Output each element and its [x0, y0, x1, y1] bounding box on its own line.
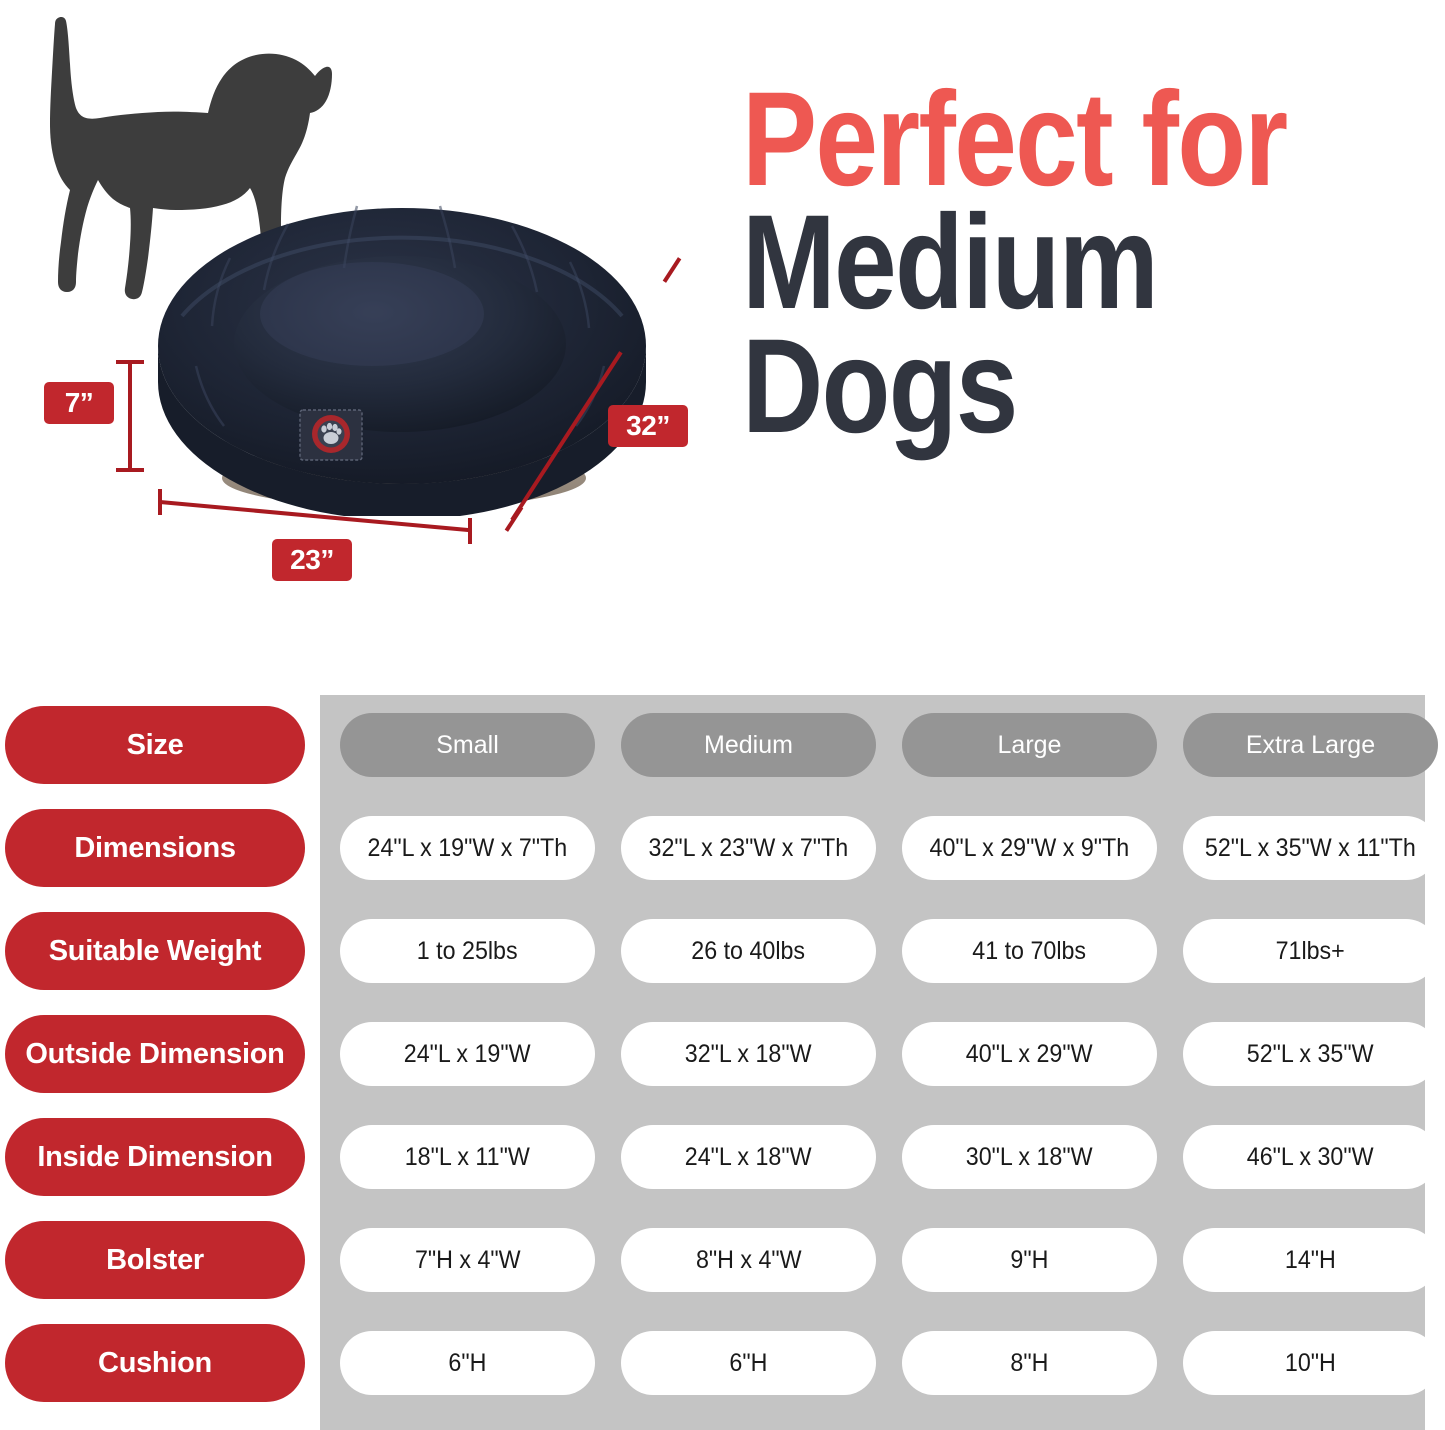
table-cell: 32"L x 18"W	[621, 1022, 876, 1086]
height-measure-cap-top	[116, 360, 144, 364]
table-cell: 1 to 25lbs	[340, 919, 595, 983]
table-cell: 9"H	[902, 1228, 1157, 1292]
table-cell-value: 7"H x 4"W	[415, 1246, 521, 1275]
row-label-size: Size	[5, 706, 305, 784]
headline-line-1: Perfect for	[742, 78, 1330, 201]
row-label-suitable-weight: Suitable Weight	[5, 912, 305, 990]
table-cell-value: 10"H	[1285, 1349, 1336, 1378]
table-cell-value: 30"L x 18"W	[966, 1143, 1093, 1172]
table-cell-value: 46"L x 30"W	[1247, 1143, 1374, 1172]
row-label-inside-dimension: Inside Dimension	[5, 1118, 305, 1196]
table-cells-area: SmallMediumLargeExtra Large24"L x 19"W x…	[320, 690, 1445, 1430]
height-measure-cap-bottom	[116, 468, 144, 472]
table-cell: 40"L x 29"W	[902, 1022, 1157, 1086]
table-cell: 71lbs+	[1183, 919, 1438, 983]
table-cell: 24"L x 19"W x 7"Th	[340, 816, 595, 880]
table-cell-value: 8"H	[1011, 1349, 1049, 1378]
table-cell: 32"L x 23"W x 7"Th	[621, 816, 876, 880]
depth-measure-cap-top	[663, 257, 682, 283]
table-cell: 46"L x 30"W	[1183, 1125, 1438, 1189]
column-header-large: Large	[902, 713, 1157, 777]
row-label-cushion: Cushion	[5, 1324, 305, 1402]
table-cell-value: 26 to 40lbs	[692, 937, 806, 966]
height-callout-badge: 7”	[44, 382, 114, 424]
table-cell-value: 32"L x 18"W	[685, 1040, 812, 1069]
headline: Perfect for Medium Dogs	[742, 78, 1442, 448]
table-cell: 24"L x 18"W	[621, 1125, 876, 1189]
column-header-medium: Medium	[621, 713, 876, 777]
table-cell-value: 32"L x 23"W x 7"Th	[649, 834, 849, 863]
row-label-dimensions: Dimensions	[5, 809, 305, 887]
table-cell: 6"H	[340, 1331, 595, 1395]
table-cell-value: 1 to 25lbs	[417, 937, 518, 966]
headline-line-3: Dogs	[742, 325, 1330, 448]
table-cell: 10"H	[1183, 1331, 1438, 1395]
table-cell: 40"L x 29"W x 9"Th	[902, 816, 1157, 880]
table-cell-value: 71lbs+	[1276, 937, 1345, 966]
column-header-small: Small	[340, 713, 595, 777]
row-label-bolster: Bolster	[5, 1221, 305, 1299]
row-label-column: SizeDimensionsSuitable WeightOutside Dim…	[0, 690, 312, 1430]
brand-tag	[300, 410, 362, 460]
specification-table: SizeDimensionsSuitable WeightOutside Dim…	[0, 690, 1445, 1430]
table-cell: 24"L x 19"W	[340, 1022, 595, 1086]
depth-callout-badge: 32”	[608, 405, 688, 447]
table-cell: 14"H	[1183, 1228, 1438, 1292]
table-cell-value: 40"L x 29"W	[966, 1040, 1093, 1069]
table-cell-value: 8"H x 4"W	[696, 1246, 802, 1275]
infographic-page: 7” 23” 32” Perfect for Medium Dogs SizeD…	[0, 0, 1445, 1430]
table-cell-value: 24"L x 18"W	[685, 1143, 812, 1172]
height-measure-line	[128, 360, 132, 472]
row-label-outside-dimension: Outside Dimension	[5, 1015, 305, 1093]
table-cell: 26 to 40lbs	[621, 919, 876, 983]
table-cell: 8"H	[902, 1331, 1157, 1395]
table-cell: 30"L x 18"W	[902, 1125, 1157, 1189]
table-cell-value: 24"L x 19"W	[404, 1040, 531, 1069]
table-cell: 6"H	[621, 1331, 876, 1395]
table-cell-value: 6"H	[449, 1349, 487, 1378]
table-cell: 41 to 70lbs	[902, 919, 1157, 983]
table-cell: 8"H x 4"W	[621, 1228, 876, 1292]
table-cell-value: 40"L x 29"W x 9"Th	[930, 834, 1130, 863]
table-cell: 52"L x 35"W x 11"Th	[1183, 816, 1438, 880]
dog-bed-product-photo	[152, 186, 652, 516]
width-callout-badge: 23”	[272, 539, 352, 581]
table-cell-value: 52"L x 35"W x 11"Th	[1205, 834, 1416, 863]
table-cell-value: 18"L x 11"W	[405, 1143, 530, 1172]
headline-line-2: Medium	[742, 201, 1330, 324]
hero-section: 7” 23” 32” Perfect for Medium Dogs	[0, 0, 1445, 690]
table-cell-value: 9"H	[1011, 1246, 1049, 1275]
table-cell: 18"L x 11"W	[340, 1125, 595, 1189]
table-cell: 7"H x 4"W	[340, 1228, 595, 1292]
column-header-extra-large: Extra Large	[1183, 713, 1438, 777]
table-cell-value: 41 to 70lbs	[973, 937, 1087, 966]
table-cell-value: 6"H	[730, 1349, 768, 1378]
table-cell: 52"L x 35"W	[1183, 1022, 1438, 1086]
table-cell-value: 24"L x 19"W x 7"Th	[368, 834, 568, 863]
width-measure-cap-right	[468, 518, 472, 544]
table-cell-value: 52"L x 35"W	[1247, 1040, 1374, 1069]
width-measure-cap-left	[158, 489, 162, 515]
table-cell-value: 14"H	[1285, 1246, 1336, 1275]
